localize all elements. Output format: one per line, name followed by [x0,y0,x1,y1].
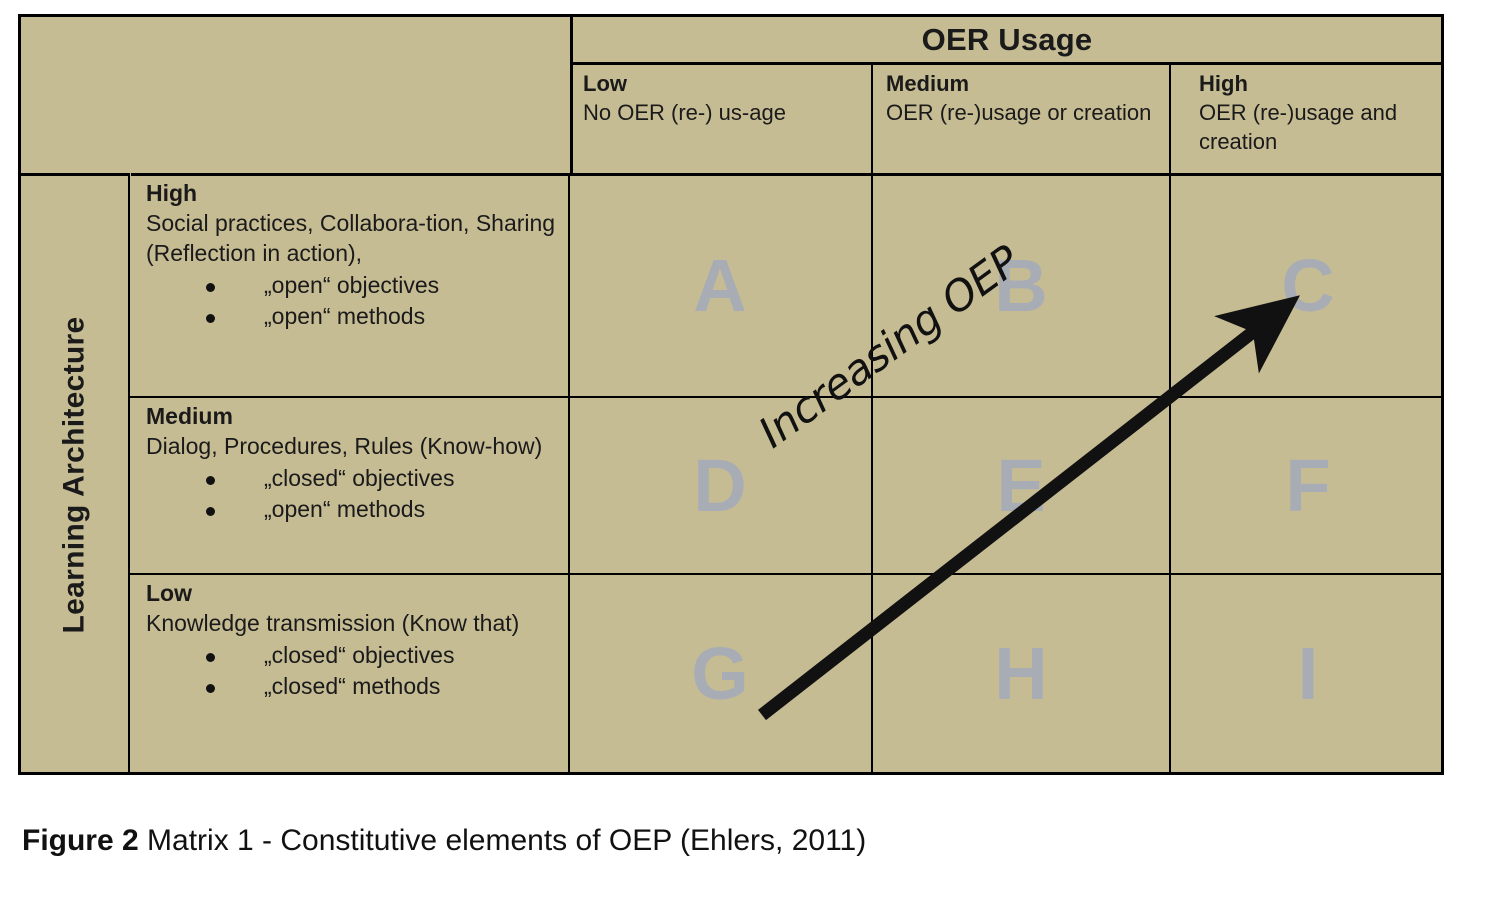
list-item: „open“ objectives [206,270,560,301]
matrix-cell-H: H [873,575,1169,772]
rule-vertical-medium-high-body [1169,173,1171,772]
figure-caption: Figure 2 Matrix 1 - Constitutive element… [22,824,866,858]
figure-oep-matrix: OER Usage Low No OER (re-) us-age Medium… [0,0,1488,904]
row-header-medium-bullets: „closed“ objectives „open“ methods [146,463,560,526]
figure-caption-text: Matrix 1 - Constitutive elements of OEP … [139,824,867,857]
matrix-cell-A: A [570,175,870,396]
list-item: „open“ methods [206,301,560,332]
matrix-table: OER Usage Low No OER (re-) us-age Medium… [18,14,1444,775]
column-header-medium: Medium OER (re-)usage or creation [876,65,1186,173]
matrix-cell-D: D [570,398,870,573]
row-header-medium: Medium Dialog, Procedures, Rules (Know-h… [131,398,568,573]
column-header-medium-description: OER (re-)usage or creation [886,98,1178,127]
column-header-high-title: High [1199,69,1433,98]
row-header-low-title: Low [146,579,560,609]
row-axis-title-learning-architecture: Learning Architecture [21,175,128,775]
row-header-high: High Social practices, Collabora-tion, S… [131,175,568,396]
row-header-medium-description: Dialog, Procedures, Rules (Know-how) [146,432,560,462]
row-header-low: Low Knowledge transmission (Know that) „… [131,575,568,772]
row-header-high-bullets: „open“ objectives „open“ methods [146,270,560,333]
column-group-title-oer-usage: OER Usage [570,17,1444,62]
rule-vertical-medium-high-header [1169,62,1171,173]
column-header-low-title: Low [583,69,865,98]
rule-vertical-axis-body [128,173,130,772]
rule-vertical-low-medium-header [871,62,873,173]
column-header-high-description: OER (re-)usage and creation [1199,98,1433,156]
figure-caption-lead: Figure 2 [22,824,139,857]
matrix-cell-G: G [570,575,870,772]
column-header-high: High OER (re-)usage and creation [1189,65,1441,173]
list-item: „closed“ objectives [206,463,560,494]
column-header-low: Low No OER (re-) us-age [573,65,873,173]
matrix-cell-F: F [1172,398,1444,573]
row-header-medium-title: Medium [146,402,560,432]
row-axis-title-text: Learning Architecture [58,317,92,634]
list-item: „closed“ methods [206,671,560,702]
row-header-low-bullets: „closed“ objectives „closed“ methods [146,640,560,703]
row-header-high-description: Social practices, Collabora-tion, Sharin… [146,209,560,269]
row-header-high-title: High [146,179,560,209]
matrix-cell-B: B [873,175,1169,396]
column-header-medium-title: Medium [886,69,1178,98]
list-item: „closed“ objectives [206,640,560,671]
column-header-low-description: No OER (re-) us-age [583,98,865,127]
matrix-cell-I: I [1172,575,1444,772]
list-item: „open“ methods [206,494,560,525]
row-header-low-description: Knowledge transmission (Know that) [146,609,560,639]
matrix-cell-C: C [1172,175,1444,396]
matrix-cell-E: E [873,398,1169,573]
